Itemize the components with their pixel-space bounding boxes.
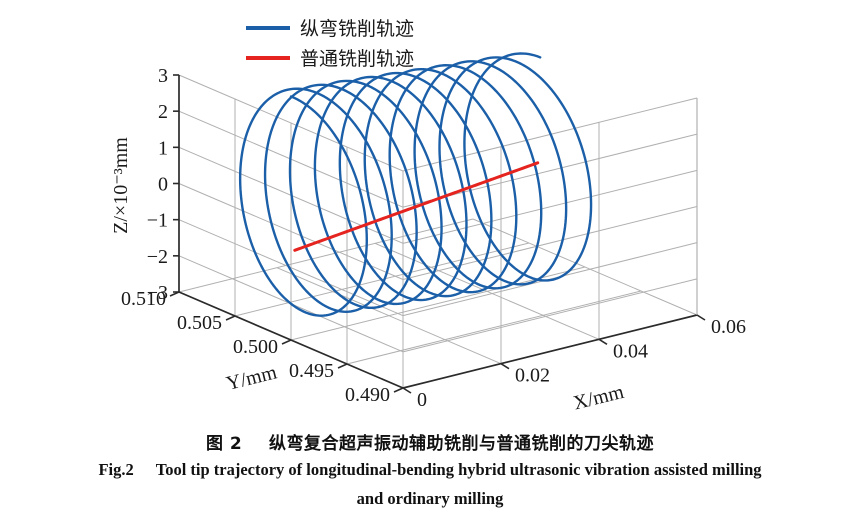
tick-label-x: 0 [417, 389, 427, 411]
tick-label-x: 0.02 [515, 365, 550, 387]
grid-line-back-wall-z [403, 170, 697, 243]
axis-title-z: Z/×10⁻³mm [110, 137, 132, 234]
tick-label-z: 2 [158, 101, 168, 123]
tick-mark-y [338, 364, 347, 368]
caption-english-line2: and ordinary milling [0, 489, 860, 509]
tick-mark-x [501, 364, 509, 369]
caption-english-text: Tool tip trajectory of longitudinal-bend… [156, 460, 762, 479]
tick-label-z: 3 [158, 65, 168, 87]
tick-label-x: 0.06 [711, 316, 746, 338]
caption-english-line1: Fig.2 Tool tip trajectory of longitudina… [0, 460, 860, 480]
tick-label-x: 0.04 [613, 340, 648, 362]
tick-mark-x [697, 315, 705, 320]
caption-chinese: 图 2 纵弯复合超声振动辅助铣削与普通铣削的刀尖轨迹 [0, 429, 860, 454]
tick-label-z: −2 [147, 246, 168, 268]
tick-mark-y [282, 340, 291, 344]
tick-label-y: 0.500 [233, 336, 278, 358]
axis-line-x [403, 315, 697, 388]
tick-label-y: 0.510 [121, 288, 166, 310]
legend: 纵弯铣削轨迹普通铣削轨迹 [246, 18, 414, 70]
tick-label-z: −1 [147, 210, 168, 232]
tick-label-z: 1 [158, 137, 168, 159]
tick-label-z: 0 [158, 174, 168, 196]
tick-mark-y [226, 316, 235, 320]
tick-mark-x [599, 339, 607, 344]
tick-mark-x [403, 388, 411, 393]
caption-chinese-number: 图 2 [206, 434, 242, 454]
legend-label-ordinary: 普通铣削轨迹 [300, 48, 414, 70]
tick-label-y: 0.505 [177, 312, 222, 334]
tick-label-y: 0.495 [289, 360, 334, 382]
trajectory-chart-svg: 3210−1−2−30.5100.5050.5000.4950.49000.02… [0, 0, 860, 420]
caption-chinese-text: 纵弯复合超声振动辅助铣削与普通铣削的刀尖轨迹 [269, 434, 654, 454]
tick-mark-y [394, 388, 403, 392]
axis-title-x: X/mm [571, 381, 626, 415]
caption-english-number: Fig.2 [98, 460, 133, 479]
legend-label-longitudinal-bending: 纵弯铣削轨迹 [300, 18, 414, 40]
tick-label-y: 0.490 [345, 384, 390, 406]
axis-title-y: Y/mm [224, 361, 279, 395]
figure-3d-trajectory-plot: 3210−1−2−30.5100.5050.5000.4950.49000.02… [0, 0, 860, 529]
